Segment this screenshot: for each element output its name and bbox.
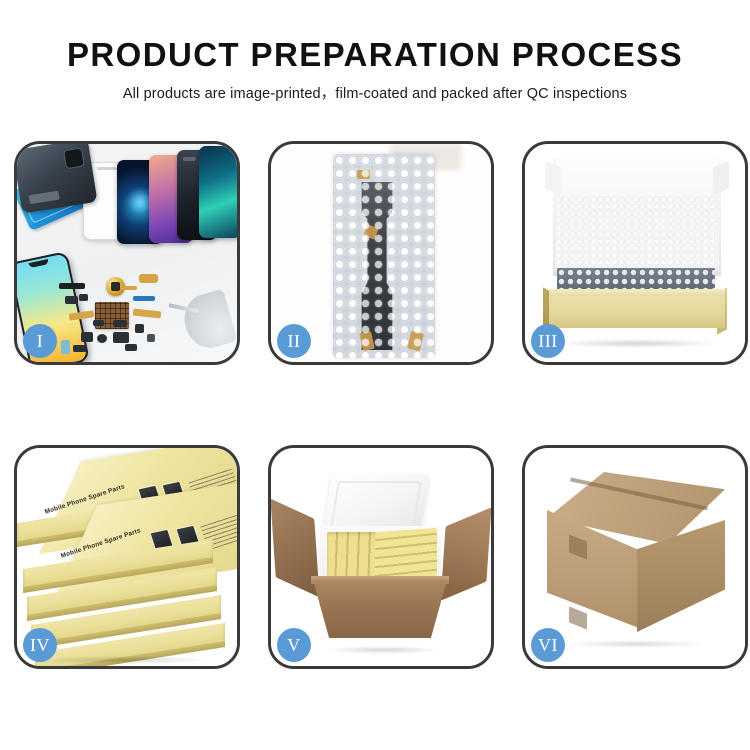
small-part-11 [147,334,155,342]
small-part-strip-1 [59,283,85,289]
small-part-9 [61,340,70,354]
process-step-2: II [268,141,494,365]
small-part-1 [65,296,78,304]
small-part-7 [113,320,127,327]
phone-back-housing [17,144,98,214]
page-title: PRODUCT PREPARATION PROCESS [0,38,750,73]
carton-flap-right [441,507,491,600]
small-part-6 [135,324,144,333]
small-part-5 [113,332,129,343]
step-badge: VI [531,628,565,662]
foam-sheet [555,196,719,270]
process-step-5: V [268,445,494,669]
process-step-6: VI [522,445,748,669]
box-front-yellow [549,294,725,328]
process-step-4: Mobile Phone Spare Parts Mobile Phone Sp… [14,445,240,669]
drop-shadow [35,656,211,664]
process-step-3: III [522,141,748,365]
bubble-wrap-bag [333,154,435,358]
small-part-3 [81,332,93,342]
header: PRODUCT PREPARATION PROCESS All products… [0,0,750,103]
small-part-strip-2 [133,296,155,301]
flex-cable-2 [133,309,162,319]
small-part-4 [97,334,107,343]
carton-front [313,580,447,638]
step-badge: I [23,324,57,358]
drop-shadow [327,646,439,654]
drop-shadow [565,640,707,648]
product-preparation-infographic: PRODUCT PREPARATION PROCESS All products… [0,0,750,750]
small-part-strip-4 [139,274,158,283]
process-step-1: I [14,141,240,365]
small-part-10 [73,345,87,352]
phone-screen-teal [199,146,237,238]
page-subtitle: All products are image-printed，film-coat… [0,82,750,103]
process-step-grid: I II [14,141,736,669]
small-part-strip-3 [121,286,137,290]
tape-piece-1 [357,170,370,179]
small-part-2 [79,294,88,301]
step-badge: IV [23,628,57,662]
step-badge: V [277,628,311,662]
step-badge: III [531,324,565,358]
drop-shadow [555,339,719,348]
small-part-12 [125,344,137,351]
small-part-8 [93,320,104,326]
carton-tab-lower [569,606,587,629]
repair-tool [178,289,237,354]
step-badge: II [277,324,311,358]
